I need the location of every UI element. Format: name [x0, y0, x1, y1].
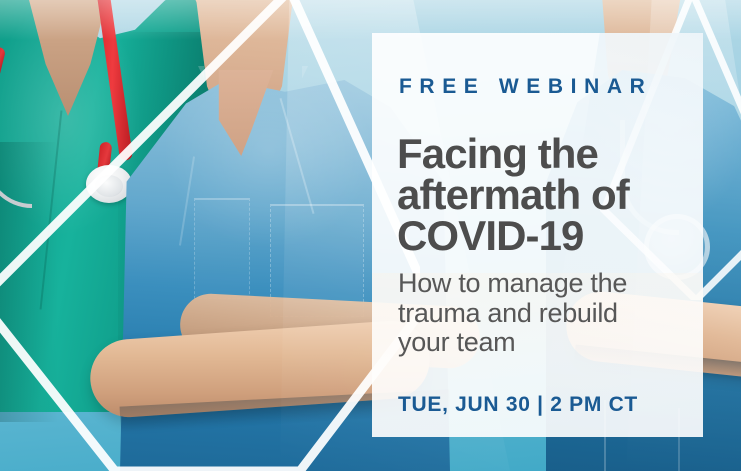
eyebrow-label: FREE WEBINAR — [399, 76, 679, 97]
webinar-promo-poster: FREE WEBINAR Facing the aftermath of COV… — [0, 0, 741, 471]
subtitle-line: your team — [398, 328, 679, 357]
headline-line: Facing the — [397, 133, 679, 174]
subtitle-line: How to manage the — [398, 269, 679, 298]
stethoscope-diaphragm-icon — [95, 175, 123, 197]
event-datetime: TUE, JUN 30 | 2 PM CT — [398, 394, 638, 415]
panel-content: FREE WEBINAR Facing the aftermath of COV… — [398, 76, 679, 437]
stethoscope-cord-icon — [0, 72, 32, 208]
headline-line: COVID-19 — [397, 215, 679, 256]
subtitle: How to manage the trauma and rebuild you… — [398, 269, 679, 357]
subtitle-line: trauma and rebuild — [398, 299, 679, 328]
headline-line: aftermath of — [397, 174, 679, 215]
content-panel: FREE WEBINAR Facing the aftermath of COV… — [372, 33, 703, 437]
page-title: Facing the aftermath of COVID-19 — [397, 133, 679, 256]
scrub-pocket — [194, 198, 250, 299]
